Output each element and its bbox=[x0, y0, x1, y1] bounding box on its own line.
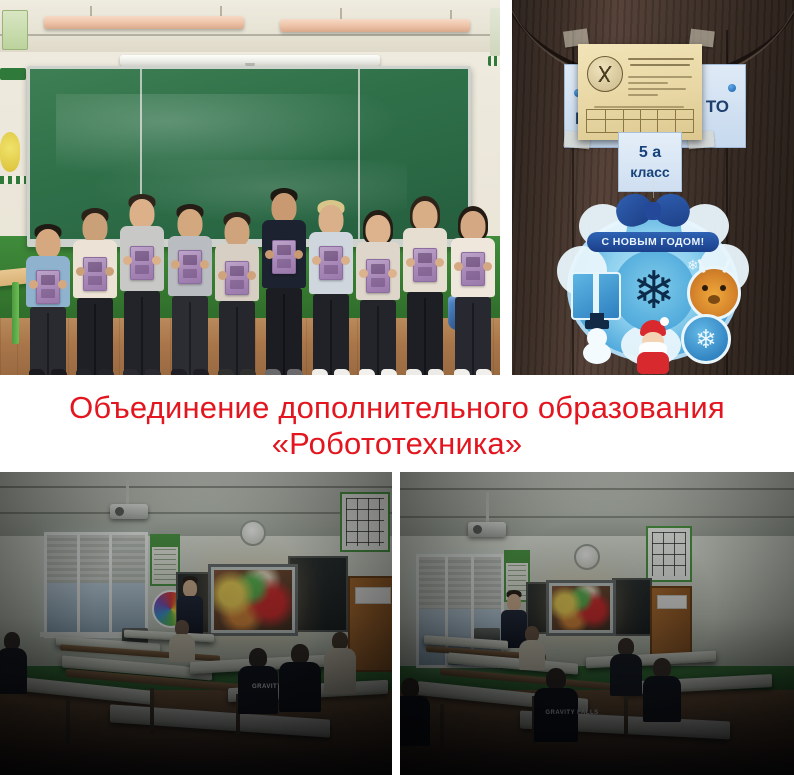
head bbox=[507, 594, 521, 611]
snowman-body bbox=[583, 342, 611, 364]
ceiling-lamp bbox=[280, 19, 470, 32]
ceiling-lamp bbox=[44, 16, 244, 29]
head bbox=[366, 215, 391, 245]
blackboard bbox=[612, 578, 652, 636]
push-pin bbox=[728, 84, 736, 92]
legs bbox=[77, 298, 113, 375]
notice-text-line bbox=[594, 106, 684, 108]
photo-classroom-group bbox=[0, 0, 500, 375]
shoe bbox=[359, 369, 375, 375]
eye bbox=[702, 285, 708, 291]
hand bbox=[312, 256, 321, 265]
notice-text-line bbox=[628, 58, 694, 60]
slide-page: К ТО bbox=[0, 0, 794, 775]
snowflake-icon: ❄ bbox=[627, 264, 681, 318]
wall-clock bbox=[574, 544, 600, 570]
desk-leg bbox=[440, 704, 444, 754]
table-column-separator bbox=[640, 110, 641, 132]
title-line-1: Объединение дополнительного образования bbox=[69, 390, 725, 426]
window-mullion bbox=[109, 535, 112, 635]
classroom-window bbox=[44, 532, 148, 638]
student-figure bbox=[116, 194, 168, 375]
organization-emblem-icon bbox=[587, 56, 623, 92]
shoe bbox=[240, 369, 256, 375]
desk-leg bbox=[66, 698, 70, 746]
body bbox=[238, 666, 278, 714]
ornament-ball-icon bbox=[681, 314, 731, 364]
body bbox=[169, 634, 195, 662]
shoe bbox=[29, 369, 45, 375]
head bbox=[291, 644, 309, 664]
legs bbox=[124, 291, 160, 375]
class-number: 5 а bbox=[639, 144, 661, 162]
new-year-wreath: ❄ ❄ ❄ ❄ С НОВЫМ ГОДОМ! bbox=[557, 196, 749, 366]
poster-grid bbox=[652, 532, 686, 576]
classroom-scene bbox=[0, 0, 500, 375]
classroom-floor bbox=[0, 690, 392, 775]
shoe bbox=[406, 369, 422, 375]
student-figure bbox=[164, 204, 216, 375]
head bbox=[224, 217, 249, 247]
santa-body bbox=[637, 352, 669, 374]
legs bbox=[266, 288, 302, 375]
legs bbox=[455, 297, 491, 375]
shoe bbox=[454, 369, 470, 375]
snowman-icon bbox=[577, 318, 617, 364]
table-column-separator bbox=[675, 110, 676, 132]
shoe bbox=[171, 369, 187, 375]
certificate bbox=[36, 270, 60, 304]
wall-poster bbox=[490, 8, 500, 56]
title-line-2: «Робототехника» bbox=[272, 426, 523, 462]
ceiling-projector bbox=[110, 504, 148, 519]
shoe bbox=[334, 369, 350, 375]
student-figure bbox=[305, 200, 357, 375]
body bbox=[0, 648, 27, 694]
poster-header bbox=[506, 552, 528, 563]
shoe bbox=[428, 369, 444, 375]
door-notice-paper bbox=[578, 44, 702, 140]
legs bbox=[313, 294, 349, 375]
shoe bbox=[76, 369, 92, 375]
cabinet-label bbox=[657, 595, 688, 609]
student-figure bbox=[352, 210, 404, 375]
wall-poster bbox=[2, 10, 28, 50]
grid-chart-poster bbox=[340, 492, 390, 552]
head bbox=[183, 580, 197, 597]
door-scene: К ТО bbox=[512, 0, 794, 375]
slide-title: Объединение дополнительного образования … bbox=[0, 382, 794, 470]
student-figure bbox=[399, 196, 451, 375]
shoe bbox=[51, 369, 67, 375]
shirt-text: GRAVITY FALLS bbox=[542, 710, 602, 716]
shoe bbox=[123, 369, 139, 375]
head bbox=[83, 213, 108, 243]
notice-text-line bbox=[630, 64, 690, 66]
legs bbox=[172, 296, 208, 375]
certificate bbox=[130, 246, 154, 280]
grid-chart-poster bbox=[646, 526, 692, 582]
notice-text-line bbox=[628, 94, 658, 96]
window-blind bbox=[419, 557, 501, 609]
ceiling-rail bbox=[0, 486, 392, 488]
wreath-bow bbox=[616, 194, 690, 228]
eye bbox=[720, 285, 726, 291]
hand bbox=[483, 262, 492, 271]
students-row bbox=[0, 150, 500, 375]
ceiling bbox=[400, 472, 794, 539]
photo-door-wreath: К ТО bbox=[512, 0, 794, 375]
certificate bbox=[319, 246, 343, 280]
legs bbox=[30, 307, 66, 375]
hand bbox=[294, 250, 303, 259]
poster-header bbox=[152, 536, 178, 547]
shoe bbox=[287, 369, 303, 375]
shoe bbox=[98, 369, 114, 375]
hand bbox=[200, 260, 209, 269]
reindeer-icon bbox=[687, 266, 741, 320]
shoe bbox=[193, 369, 209, 375]
student-figure bbox=[211, 212, 263, 375]
student-figure bbox=[447, 206, 499, 375]
body bbox=[279, 662, 321, 712]
wreath-greeting-banner: С НОВЫМ ГОДОМ! bbox=[587, 232, 719, 252]
ceiling-rail bbox=[400, 488, 794, 490]
projector-mount bbox=[126, 480, 129, 506]
hand bbox=[58, 280, 67, 289]
body bbox=[400, 696, 430, 746]
window-blind bbox=[47, 535, 145, 583]
shoe bbox=[381, 369, 397, 375]
roll-up-screen bbox=[120, 55, 380, 66]
certificate bbox=[366, 259, 390, 293]
desk-leg bbox=[150, 688, 154, 734]
hand bbox=[171, 260, 180, 269]
wall-poster bbox=[488, 56, 500, 66]
head bbox=[460, 211, 485, 241]
student-figure bbox=[258, 188, 310, 375]
table-column-separator bbox=[605, 110, 606, 132]
head bbox=[401, 678, 419, 698]
ceiling-rail bbox=[400, 516, 794, 518]
wall-clock bbox=[240, 520, 266, 546]
ceiling bbox=[0, 472, 392, 539]
legs bbox=[219, 301, 255, 375]
poster-rows bbox=[154, 549, 176, 580]
shoe bbox=[218, 369, 234, 375]
head bbox=[546, 668, 566, 690]
certificate bbox=[413, 248, 437, 282]
santa-claus-icon bbox=[633, 320, 673, 372]
projection-screen bbox=[208, 564, 298, 636]
head bbox=[177, 209, 202, 239]
body bbox=[519, 640, 545, 670]
lesson-scene-right: GRAVITY FALLS bbox=[400, 472, 794, 775]
table-column-separator bbox=[623, 110, 624, 132]
certificate bbox=[83, 257, 107, 291]
projection-screen bbox=[546, 580, 616, 636]
notice-schedule-table bbox=[586, 109, 694, 133]
ceiling-projector bbox=[468, 522, 506, 537]
class-number-sign: 5 а класс bbox=[618, 132, 682, 192]
hand bbox=[218, 271, 227, 280]
photo-lesson-right: GRAVITY FALLS bbox=[400, 472, 794, 775]
class-word: класс bbox=[630, 164, 669, 180]
shoe bbox=[265, 369, 281, 375]
nose bbox=[708, 295, 720, 304]
head bbox=[319, 205, 344, 235]
head bbox=[249, 648, 267, 668]
certificate bbox=[272, 240, 296, 274]
ceiling-rail bbox=[0, 512, 392, 514]
cabinet-label bbox=[355, 587, 390, 604]
window-mullion bbox=[77, 535, 80, 635]
head bbox=[413, 201, 438, 231]
hand bbox=[265, 250, 274, 259]
table-column-separator bbox=[657, 110, 658, 132]
head bbox=[36, 229, 61, 259]
shoe bbox=[312, 369, 328, 375]
projector-mount bbox=[486, 492, 489, 524]
hand bbox=[454, 262, 463, 271]
wall-poster bbox=[0, 68, 26, 80]
hand bbox=[247, 271, 256, 280]
wreath-greeting-text: С НОВЫМ ГОДОМ! bbox=[601, 236, 704, 248]
notice-text-line bbox=[628, 88, 686, 90]
legs bbox=[407, 292, 443, 375]
legs bbox=[360, 300, 396, 376]
photo-lesson-left: GRAVITY FALLS bbox=[0, 472, 392, 775]
student-figure bbox=[69, 208, 121, 375]
certificate bbox=[461, 252, 485, 286]
hand bbox=[341, 256, 350, 265]
head bbox=[653, 658, 671, 678]
notice-text-line bbox=[628, 82, 668, 84]
body bbox=[610, 654, 642, 696]
body bbox=[324, 648, 356, 694]
projected-image bbox=[552, 586, 610, 630]
student-figure bbox=[22, 224, 74, 375]
notice-text-line bbox=[628, 76, 692, 78]
hand bbox=[29, 280, 38, 289]
head bbox=[271, 193, 296, 223]
projected-image bbox=[214, 570, 292, 630]
shoe bbox=[476, 369, 492, 375]
bow-knot bbox=[645, 202, 661, 220]
shoe bbox=[145, 369, 161, 375]
wooden-cabinet bbox=[650, 586, 692, 662]
certificate bbox=[178, 250, 202, 284]
lesson-scene-left: GRAVITY FALLS bbox=[0, 472, 392, 775]
sign-letter: ТО bbox=[706, 97, 729, 117]
head bbox=[130, 199, 155, 229]
certificate bbox=[225, 261, 249, 295]
body bbox=[643, 676, 681, 722]
poster-grid bbox=[346, 498, 384, 546]
